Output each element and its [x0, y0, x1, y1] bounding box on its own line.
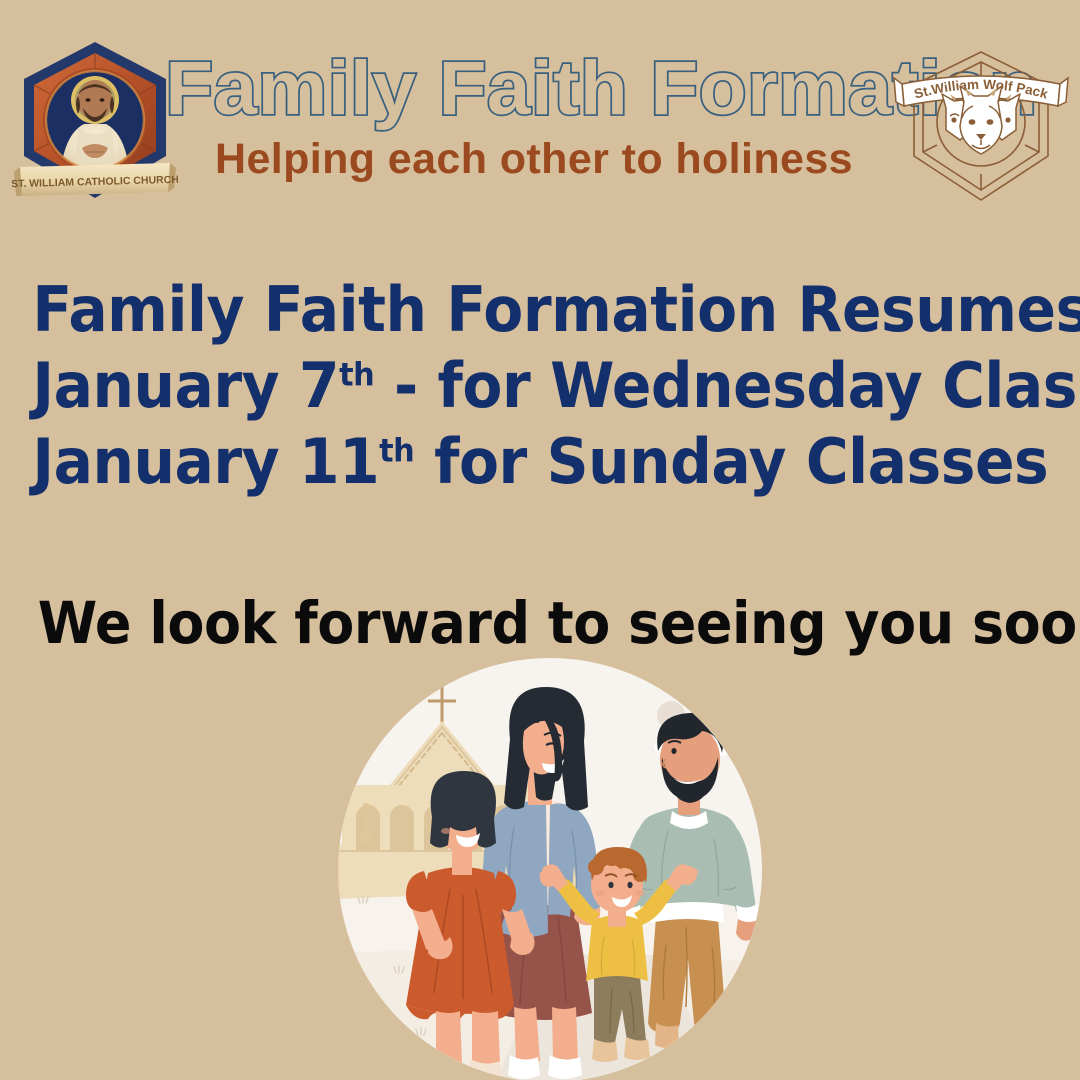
header-text-block: Family Faith Formation Helping each othe…	[176, 48, 892, 184]
headline-line-2-pre: January 7	[32, 349, 339, 422]
church-crest-icon: ST. WILLIAM CATHOLIC CHURCH	[12, 36, 178, 214]
headline-line-3-pre: January 11	[32, 425, 379, 498]
headline-line-1-text: Family Faith Formation Resumes	[32, 273, 1080, 346]
wolf-pack-crest-icon: St.William Wolf Pack	[888, 44, 1074, 212]
headline-line-3: January 11th for Sunday Classes	[32, 424, 1047, 500]
header-banner: ST. WILLIAM CATHOLIC CHURCH Family Faith…	[0, 0, 1080, 232]
headline-line-2: January 7th - for Wednesday Classes	[32, 348, 1047, 424]
family-walking-to-church-illustration	[300, 655, 800, 1080]
father-hand-right	[736, 919, 760, 941]
boy-shoe-right	[624, 1037, 650, 1060]
headline-line-2-sup: th	[339, 355, 374, 393]
boy-shoe-left	[592, 1039, 618, 1062]
brand-title: Family Faith Formation	[165, 48, 902, 130]
headline-line-2-post: - for Wednesday Classes	[374, 349, 1080, 422]
girl-shoe-left	[428, 1059, 462, 1080]
headline-line-3-post: for Sunday Classes	[414, 425, 1048, 498]
subline-text: We look forward to seeing you soon!	[38, 588, 1042, 658]
poster-canvas: ST. WILLIAM CATHOLIC CHURCH Family Faith…	[0, 0, 1080, 1080]
father-foot-right	[700, 1023, 725, 1048]
brand-tagline: Helping each other to holiness	[176, 134, 892, 184]
crest-banner: ST. WILLIAM CATHOLIC CHURCH	[12, 163, 178, 196]
headline-line-1: Family Faith Formation Resumes	[32, 272, 1047, 348]
headline-line-3-sup: th	[379, 431, 414, 469]
father-foot-left	[655, 1023, 679, 1048]
headline-block: Family Faith Formation Resumes January 7…	[0, 272, 1080, 500]
